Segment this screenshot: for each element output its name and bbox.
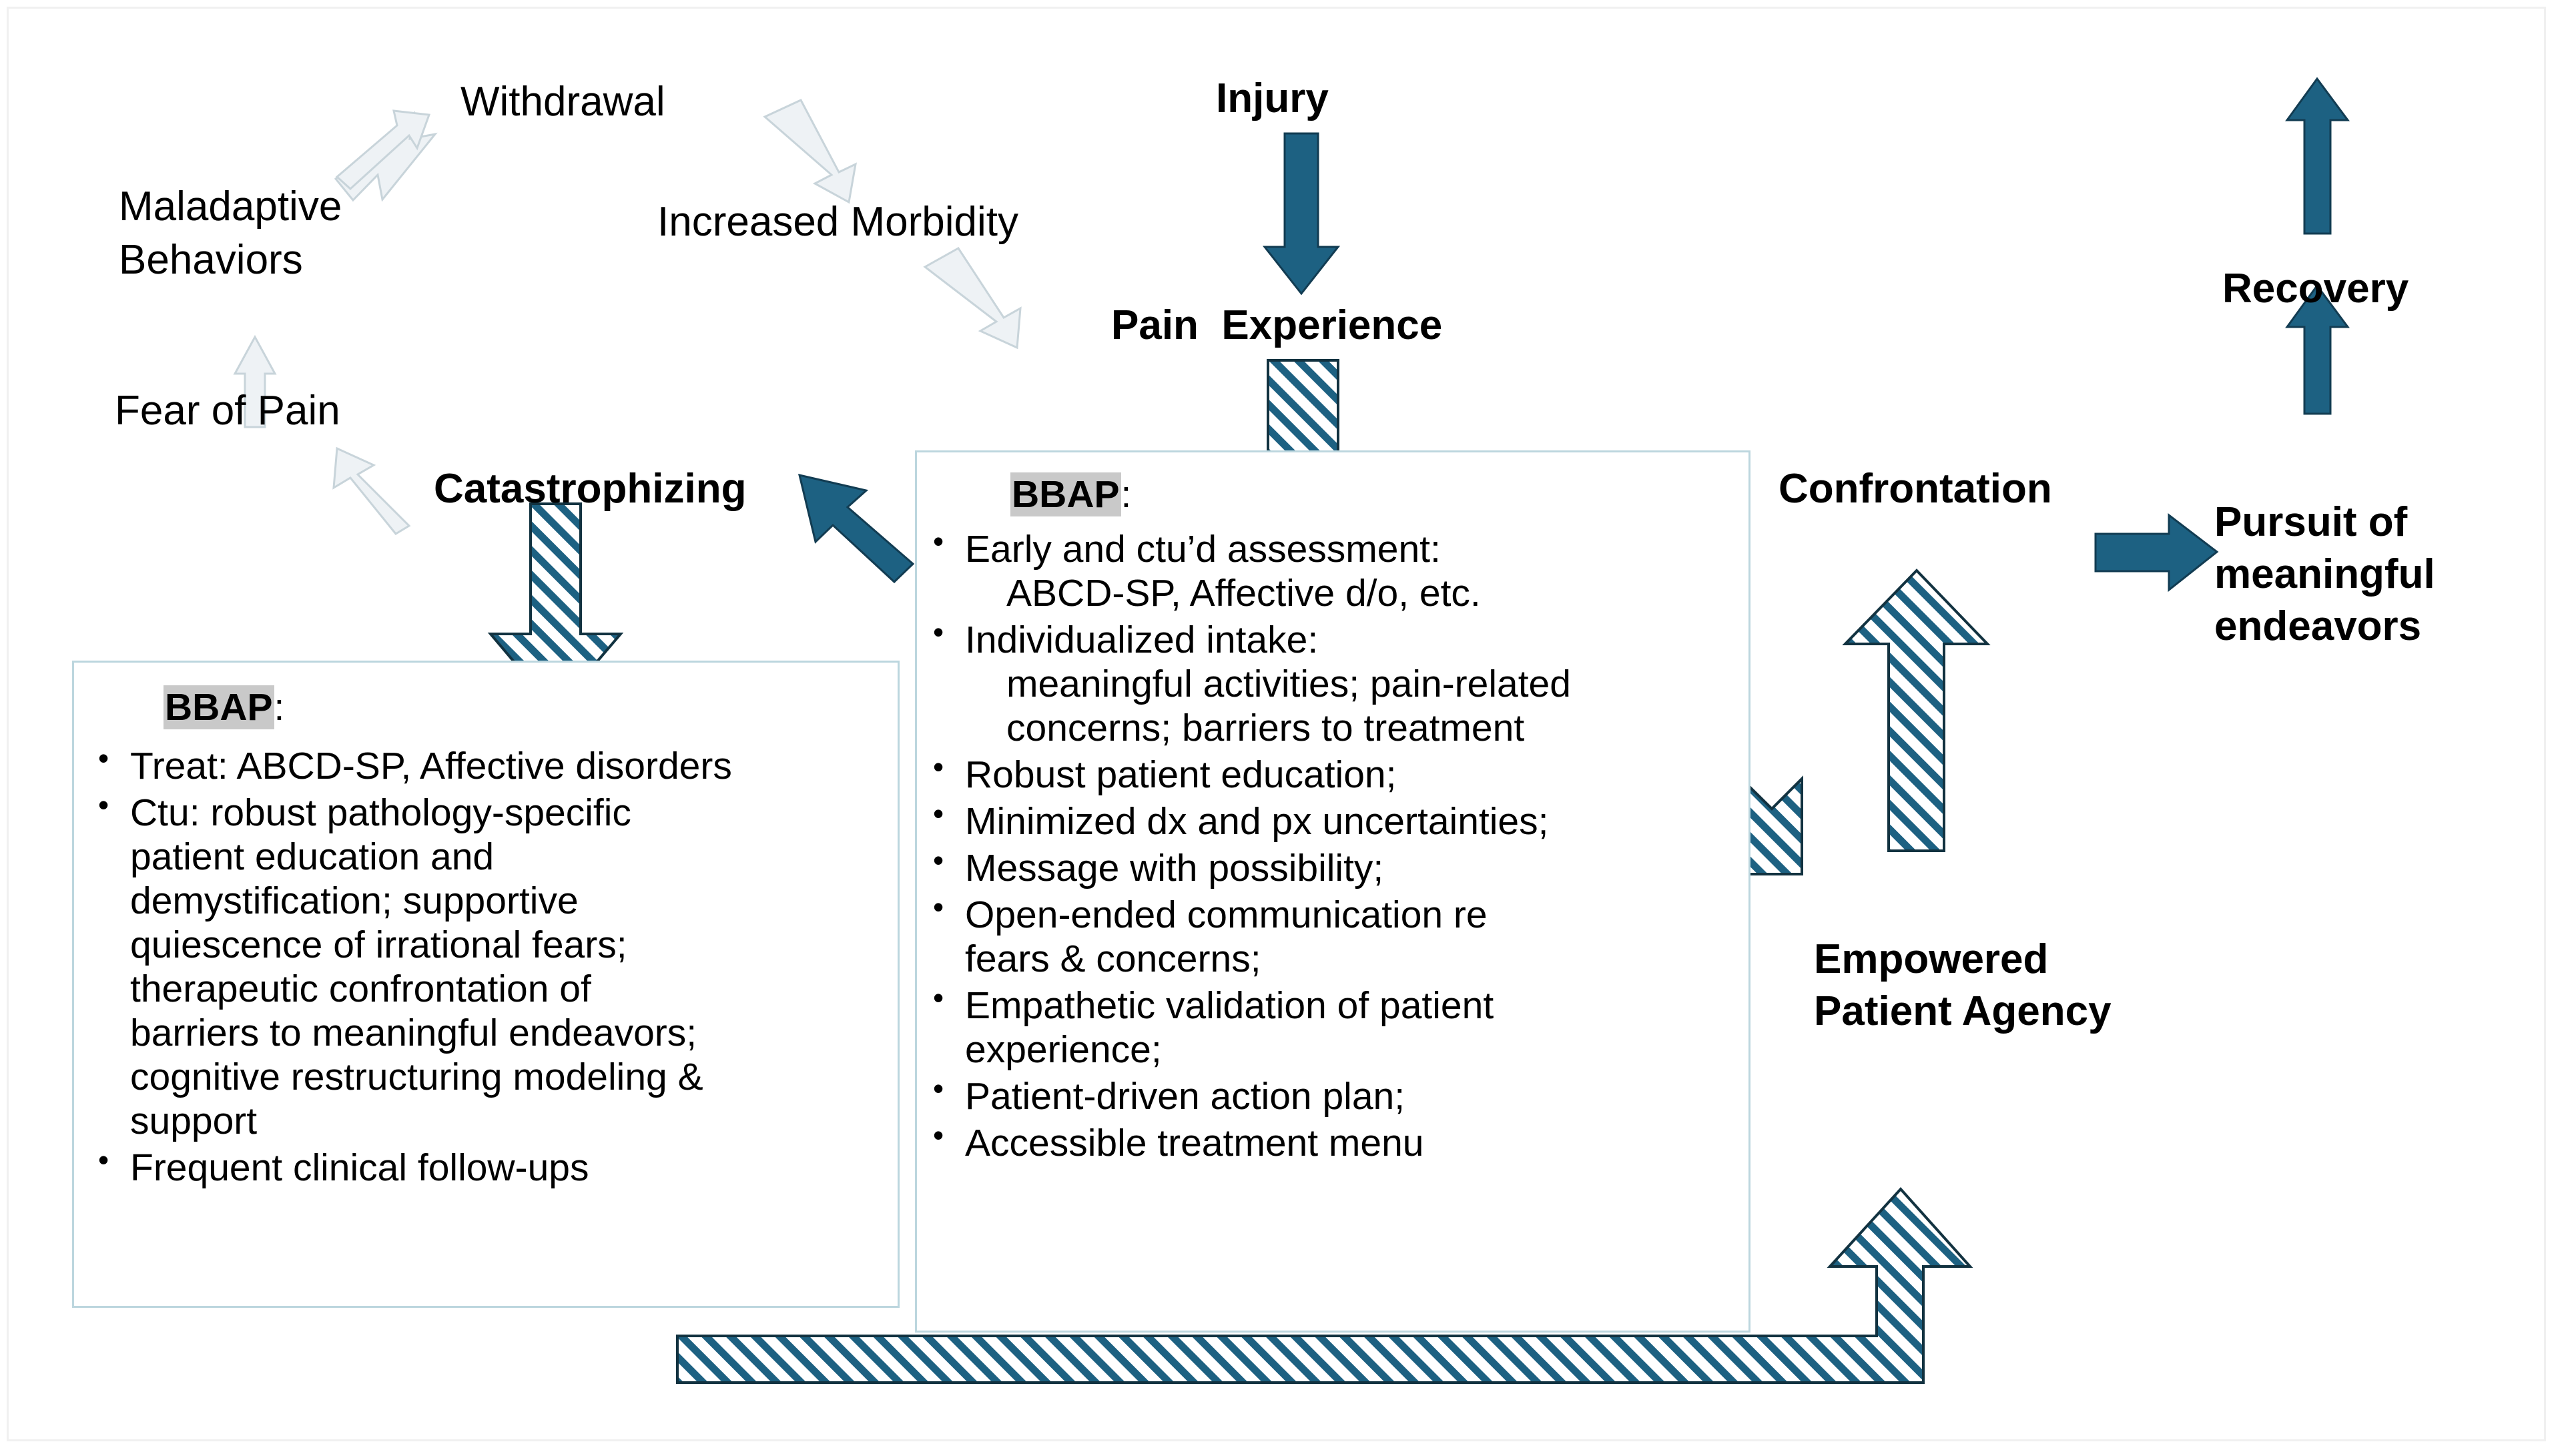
label-catastrophizing: Catastrophizing bbox=[434, 464, 746, 514]
list-item-line: patient education and bbox=[130, 835, 886, 879]
left-panel-heading: BBAP: bbox=[164, 685, 886, 729]
arrow-withdrawal-to-morbidity-icon bbox=[765, 100, 856, 202]
list-item-line: support bbox=[130, 1099, 886, 1143]
arrow-injury-to-pain-icon bbox=[1265, 133, 1338, 294]
label-empowered-patient-agency-line2: Patient Agency bbox=[1814, 986, 2112, 1037]
list-item: Patient-driven action plan; bbox=[924, 1074, 1739, 1118]
label-increased-morbidity: Increased Morbidity bbox=[657, 197, 1018, 248]
center-bbap-panel: BBAP: Early and ctu’d assessment: ABCD-S… bbox=[915, 450, 1750, 1333]
list-item-line: Minimized dx and px uncertainties; bbox=[965, 800, 1548, 843]
arrow-maladaptive-to-withdrawal-icon bbox=[336, 111, 435, 200]
list-item-line: Message with possibility; bbox=[965, 847, 1383, 889]
label-maladaptive-behaviors-line2: Behaviors bbox=[119, 235, 303, 286]
label-withdrawal: Withdrawal bbox=[460, 77, 665, 127]
list-item-line: Open-ended communication re bbox=[965, 893, 1739, 937]
left-bbap-panel: BBAP: Treat: ABCD-SP, Affective disorder… bbox=[72, 661, 900, 1308]
list-item-line: therapeutic confrontation of bbox=[130, 967, 886, 1011]
list-item-line: Robust patient education; bbox=[965, 753, 1396, 796]
label-fear-of-pain: Fear of Pain bbox=[115, 386, 340, 436]
list-item-subline: concerns; barriers to treatment bbox=[965, 706, 1739, 750]
arrow-catastrophizing-to-fear-icon bbox=[334, 448, 409, 534]
arrow-empowered-to-confrontation-icon bbox=[1845, 571, 1987, 851]
label-pain-experience: Pain Experience bbox=[1111, 300, 1442, 351]
label-confrontation: Confrontation bbox=[1779, 464, 2052, 514]
list-item-line: Treat: ABCD-SP, Affective disorders bbox=[130, 745, 732, 787]
arrow-confrontation-to-pursuit-icon bbox=[2096, 515, 2217, 590]
list-item-line: Empathetic validation of patient bbox=[965, 984, 1739, 1028]
list-item: Ctu: robust pathology-specific patient e… bbox=[89, 791, 886, 1143]
list-item-line: Accessible treatment menu bbox=[965, 1122, 1423, 1164]
list-item-line: fears & concerns; bbox=[965, 937, 1739, 981]
list-item-subline: ABCD-SP, Affective d/o, etc. bbox=[965, 571, 1739, 615]
left-panel-colon: : bbox=[274, 686, 285, 729]
list-item-line: Early and ctu’d assessment: bbox=[965, 528, 1441, 571]
center-panel-heading: BBAP: bbox=[1010, 472, 1739, 516]
list-item: Treat: ABCD-SP, Affective disorders bbox=[89, 744, 886, 788]
list-item: Empathetic validation of patient experie… bbox=[924, 984, 1739, 1072]
center-panel-bbap-badge: BBAP bbox=[1010, 472, 1121, 516]
arrow-recovery-up-icon bbox=[2287, 79, 2348, 234]
left-panel-bbap-badge: BBAP bbox=[164, 685, 274, 729]
list-item-subline: meaningful activities; pain-related bbox=[965, 662, 1739, 706]
list-item-line: Patient-driven action plan; bbox=[965, 1075, 1405, 1118]
label-maladaptive-behaviors-line1: Maladaptive bbox=[119, 181, 342, 232]
list-item-line: demystification; supportive bbox=[130, 879, 886, 923]
left-panel-list: Treat: ABCD-SP, Affective disorders Ctu:… bbox=[89, 744, 886, 1190]
list-item-line: Individualized intake: bbox=[965, 619, 1318, 661]
label-injury: Injury bbox=[1216, 73, 1329, 124]
label-pursuit-line1: Pursuit of bbox=[2214, 497, 2407, 548]
list-item: Individualized intake: meaningful activi… bbox=[924, 618, 1739, 750]
list-item: Frequent clinical follow-ups bbox=[89, 1146, 886, 1190]
list-item: Accessible treatment menu bbox=[924, 1121, 1739, 1165]
label-pursuit-line3: endeavors bbox=[2214, 601, 2421, 652]
list-item-line: quiescence of irrational fears; bbox=[130, 923, 886, 967]
list-item-line: experience; bbox=[965, 1028, 1739, 1072]
list-item: Early and ctu’d assessment: ABCD-SP, Aff… bbox=[924, 527, 1739, 615]
list-item: Minimized dx and px uncertainties; bbox=[924, 799, 1739, 843]
list-item: Robust patient education; bbox=[924, 753, 1739, 797]
label-pursuit-line2: meaningful bbox=[2214, 549, 2435, 600]
center-panel-list: Early and ctu’d assessment: ABCD-SP, Aff… bbox=[924, 527, 1739, 1165]
list-item-line: barriers to meaningful endeavors; bbox=[130, 1011, 886, 1055]
arrow-bbap-to-catastrophizing-icon bbox=[800, 475, 913, 582]
list-item-line: Frequent clinical follow-ups bbox=[130, 1146, 589, 1189]
list-item: Open-ended communication re fears & conc… bbox=[924, 893, 1739, 981]
label-recovery: Recovery bbox=[2222, 264, 2409, 314]
arrow-morbidity-to-pain-icon bbox=[925, 248, 1020, 348]
diagram-canvas: Withdrawal Increased Morbidity Maladapti… bbox=[0, 0, 2558, 1456]
label-empowered-patient-agency-line1: Empowered bbox=[1814, 934, 2048, 985]
center-panel-colon: : bbox=[1121, 473, 1132, 516]
list-item: Message with possibility; bbox=[924, 846, 1739, 890]
list-item-line: cognitive restructuring modeling & bbox=[130, 1055, 886, 1099]
list-item-line: Ctu: robust pathology-specific bbox=[130, 791, 886, 835]
